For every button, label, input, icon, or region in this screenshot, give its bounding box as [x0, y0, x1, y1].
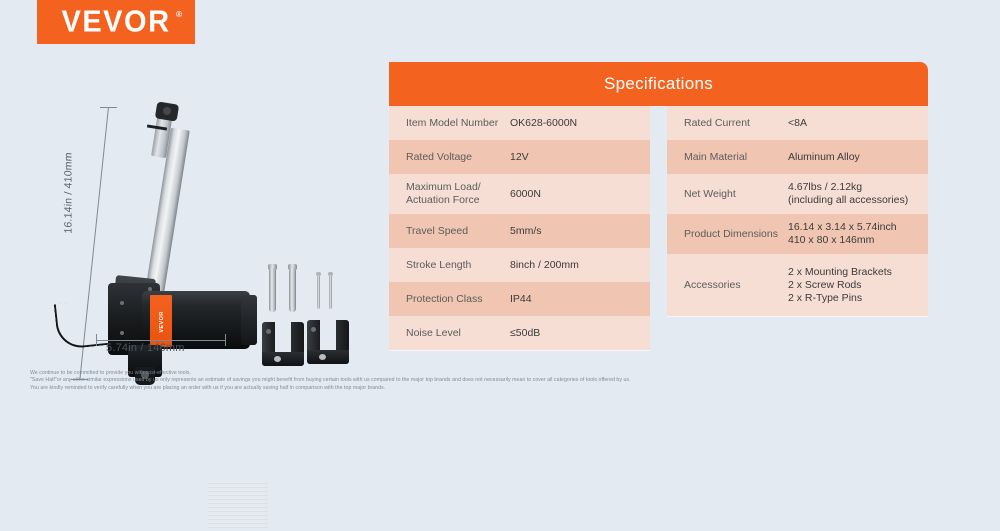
spec-label: Stroke Length [406, 259, 510, 272]
spec-row-left-4: Stroke Length8inch / 200mm [389, 248, 650, 282]
spec-row-left-3: Travel Speed5mm/s [389, 214, 650, 248]
housing-screw-2 [120, 331, 124, 335]
mounting-bracket-1-base [262, 352, 304, 366]
spec-row-right-1: Main MaterialAluminum Alloy [667, 140, 928, 174]
spec-label: Maximum Load/Actuation Force [406, 181, 510, 207]
product-illustration: 16.14in / 410mm VEVOR [0, 45, 385, 360]
spec-label: Travel Speed [406, 225, 510, 238]
r-type-pin-1 [317, 275, 320, 309]
housing-screw-3 [148, 287, 152, 291]
spec-label: Rated Voltage [406, 151, 510, 164]
spec-row-left-5: Protection ClassIP44 [389, 282, 650, 316]
spec-row-right-2: Net Weight4.67lbs / 2.12kg(including all… [667, 174, 928, 214]
mounting-bracket-2 [307, 320, 349, 364]
width-dimension-line [96, 340, 226, 341]
spec-label: Noise Level [406, 327, 510, 340]
spec-value: 4.67lbs / 2.12kg(including all accessori… [788, 181, 908, 207]
footer-line: We continue to be committed to provide y… [30, 370, 970, 377]
spec-value: 16.14 x 3.14 x 5.74inch410 x 80 x 146mm [788, 221, 897, 247]
r-type-pin-2 [329, 275, 332, 309]
linear-actuator-graphic: VEVOR [108, 105, 268, 365]
spec-value: <8A [788, 117, 807, 130]
spec-row-left-1: Rated Voltage12V [389, 140, 650, 174]
specifications-left-column: Item Model NumberOK628-6000NRated Voltag… [389, 106, 650, 350]
spec-label: Item Model Number [406, 117, 510, 130]
spec-label: Protection Class [406, 293, 510, 306]
motor-spec-sticker [208, 483, 268, 531]
spec-value: ≤50dB [510, 327, 540, 340]
spec-value: Aluminum Alloy [788, 151, 860, 164]
spec-label: Rated Current [684, 117, 788, 130]
registered-trademark-icon: ® [176, 10, 182, 19]
footer-disclaimer: We continue to be committed to provide y… [30, 370, 970, 392]
specifications-body: Item Model NumberOK628-6000NRated Voltag… [389, 106, 928, 350]
screw-rod-1 [269, 268, 276, 312]
accessories-graphic [258, 220, 378, 360]
height-dimension-label: 16.14in / 410mm [63, 152, 75, 234]
footer-line: You are kindly reminded to verify carefu… [30, 385, 970, 392]
spec-label: Main Material [684, 151, 788, 164]
mounting-bracket-2-base-hole [319, 354, 326, 360]
specifications-header: Specifications [389, 62, 928, 106]
spec-label: Product Dimensions [684, 228, 788, 241]
spec-row-left-6: Noise Level≤50dB [389, 316, 650, 350]
specifications-right-column: Rated Current<8AMain MaterialAluminum Al… [667, 106, 928, 350]
spec-value: 12V [510, 151, 529, 164]
spec-value: 6000N [510, 188, 541, 201]
width-dimension-label: 5.74in / 146mm [106, 342, 185, 354]
motor-end-cap [241, 295, 257, 345]
specifications-title: Specifications [604, 74, 713, 94]
footer-line: "Save Half"or any other similar expressi… [30, 377, 970, 384]
screw-rod-2 [289, 268, 296, 312]
specifications-table: Specifications Item Model NumberOK628-60… [389, 62, 928, 350]
spec-value: OK628-6000N [510, 117, 577, 130]
spec-value: 8inch / 200mm [510, 259, 579, 272]
vevor-logo-text: VEVOR [61, 5, 170, 40]
spec-label: Net Weight [684, 188, 788, 201]
housing-screw-1 [120, 301, 124, 305]
motor-brand-label-text: VEVOR [159, 302, 165, 342]
vevor-logo: VEVOR ® [37, 0, 195, 44]
mounting-bracket-1 [262, 322, 304, 366]
spec-value: 5mm/s [510, 225, 542, 238]
spec-row-right-4: Accessories2 x Mounting Brackets2 x Scre… [667, 254, 928, 316]
spec-row-left-2: Maximum Load/Actuation Force6000N [389, 174, 650, 214]
mounting-bracket-2-base [307, 350, 349, 364]
spec-row-left-0: Item Model NumberOK628-6000N [389, 106, 650, 140]
mounting-bracket-1-top-hole [266, 329, 271, 334]
mounting-bracket-1-base-hole [274, 356, 281, 362]
spec-row-right-3: Product Dimensions16.14 x 3.14 x 5.74inc… [667, 214, 928, 254]
spec-row-right-0: Rated Current<8A [667, 106, 928, 140]
width-dimension-tick-right [225, 334, 226, 346]
spec-label: Accessories [684, 279, 788, 292]
spec-value: IP44 [510, 293, 532, 306]
spec-value: 2 x Mounting Brackets2 x Screw Rods2 x R… [788, 266, 892, 305]
mounting-bracket-2-top-hole [311, 327, 316, 332]
